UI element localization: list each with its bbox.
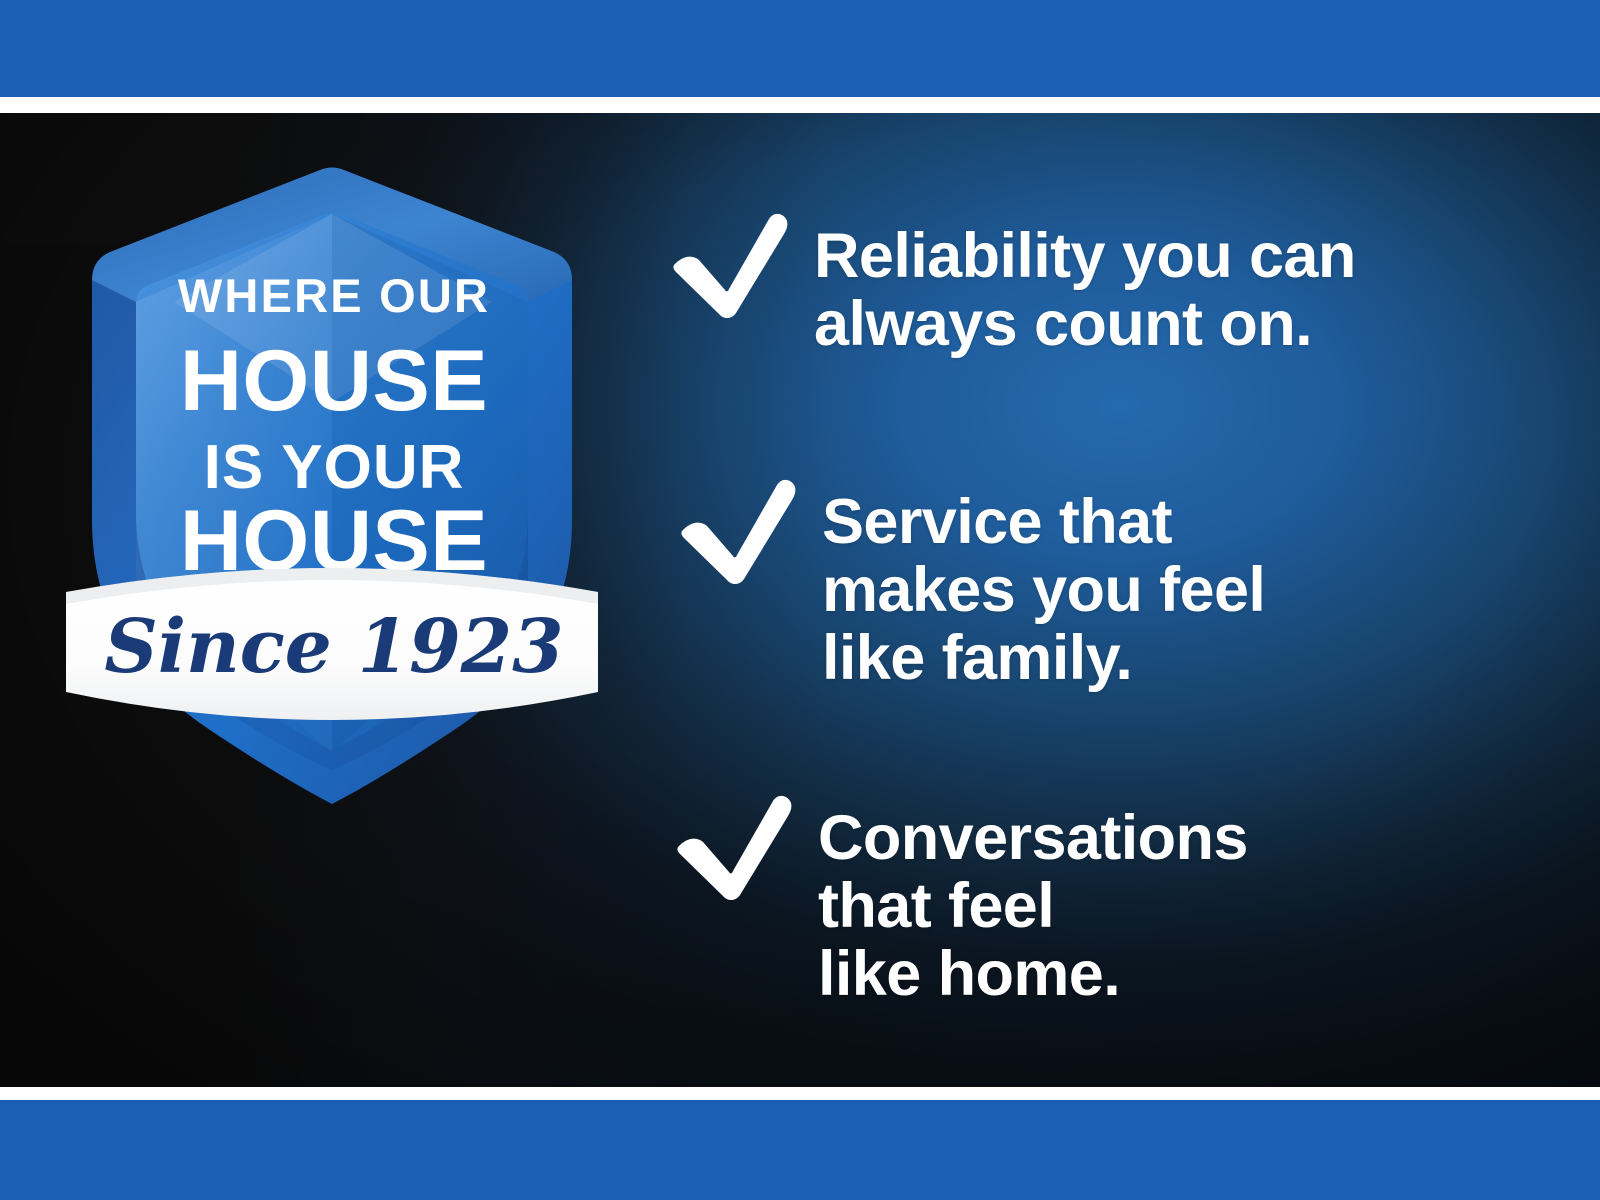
- top-brand-bar: [0, 0, 1600, 97]
- list-item-text: Conversations that feel like home.: [818, 792, 1248, 1008]
- ribbon-label: Since 1923: [104, 604, 563, 690]
- promo-poster: WHERE OUR HOUSE IS YOUR HOUSE Since 1923…: [0, 0, 1600, 1200]
- shield-line-1: WHERE OUR: [178, 269, 490, 322]
- company-shield-logo: WHERE OUR HOUSE IS YOUR HOUSE Since 1923: [62, 152, 602, 812]
- list-item-text: Service that makes you feel like family.: [822, 476, 1265, 692]
- list-item: Conversations that feel like home.: [672, 792, 1248, 1008]
- list-item-text: Reliability you can always count on.: [814, 210, 1356, 358]
- check-icon: [672, 792, 796, 902]
- bottom-brand-bar: [0, 1100, 1600, 1200]
- list-item: Service that makes you feel like family.: [676, 476, 1265, 692]
- shield-line-3: IS YOUR: [204, 433, 465, 502]
- list-item: Reliability you can always count on.: [668, 210, 1356, 358]
- shield-line-2: HOUSE: [180, 333, 488, 429]
- check-icon: [676, 476, 800, 586]
- value-prop-list: Reliability you can always count on. Ser…: [668, 196, 1548, 1016]
- check-icon: [668, 210, 792, 320]
- since-ribbon: Since 1923: [66, 568, 598, 720]
